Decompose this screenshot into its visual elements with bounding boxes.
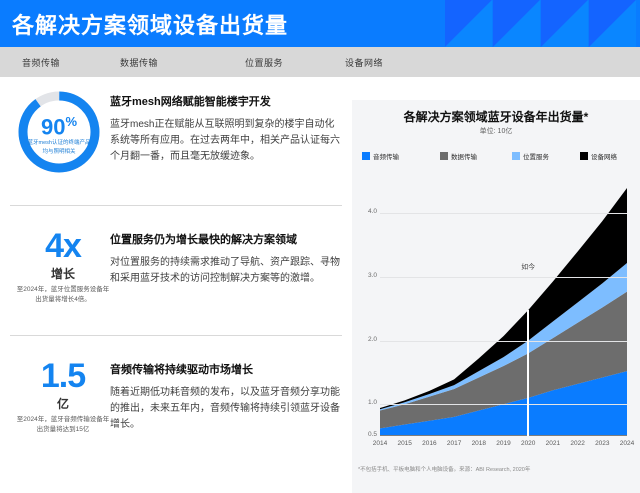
y-axis-tick-label: 3.0 <box>354 272 377 279</box>
x-axis-tick-label: 2018 <box>472 440 486 447</box>
fact-body-text: 随着近期低功耗音频的发布，以及蓝牙音频分享功能的推出，未来五年内，音频传输将持续… <box>110 385 342 433</box>
x-axis-tick-label: 2017 <box>447 440 461 447</box>
x-axis-tick-label: 2024 <box>620 440 634 447</box>
chart-legend: 音频传输数据传输位置服务设备网络 <box>362 146 634 158</box>
x-axis-tick-label: 2020 <box>521 440 535 447</box>
x-axis-tick-label: 2023 <box>595 440 609 447</box>
header-chevron-decoration <box>445 0 640 47</box>
stacked-area-svg <box>380 188 627 436</box>
x-axis-tick-label: 2015 <box>397 440 411 447</box>
legend-label: 设备网络 <box>591 154 617 161</box>
page-header: 各解决方案领域设备出货量 <box>0 0 640 47</box>
donut-number: 90 <box>41 114 65 139</box>
nav-item-4[interactable]: 设备网络 <box>345 56 383 69</box>
legend-item-2: 数据传输 <box>440 146 477 158</box>
donut-caption: 蓝牙mesh认证的终端产品均与照明相关 <box>25 139 93 157</box>
fact-text-block: 音频传输将持续驱动市场增长随着近期低功耗音频的发布，以及蓝牙音频分享功能的推出，… <box>110 363 342 433</box>
legend-item-3: 位置服务 <box>512 146 549 158</box>
page-title: 各解决方案领域设备出货量 <box>12 8 288 40</box>
chart-title: 各解决方案领域蓝牙设备年出货量* <box>352 108 640 125</box>
today-marker-label: 如今 <box>521 262 535 272</box>
legend-label: 位置服务 <box>523 154 549 161</box>
fact-heading: 位置服务仍为增长最快的解决方案领域 <box>110 233 342 248</box>
legend-swatch-icon <box>512 152 520 160</box>
x-axis-tick-label: 2019 <box>496 440 510 447</box>
donut-value: 90% <box>16 115 102 138</box>
chart-unit-label: 单位: 10亿 <box>352 126 640 136</box>
fact-body-text: 蓝牙mesh正在赋能从互联照明到复杂的楼宇自动化系统等所有应用。在过去两年中，相… <box>110 117 342 165</box>
legend-item-1: 音频传输 <box>362 146 399 158</box>
stat-value: 1.5 <box>8 359 118 393</box>
facts-column: 90%蓝牙mesh认证的终端产品均与照明相关蓝牙mesh网络赋能智能楼宇开发蓝牙… <box>0 77 352 493</box>
chevron-icon <box>589 0 636 47</box>
nav-item-3[interactable]: 位置服务 <box>245 56 283 69</box>
legend-swatch-icon <box>440 152 448 160</box>
donut-percent-symbol: % <box>65 114 77 129</box>
nav-item-2[interactable]: 数据传输 <box>120 56 158 69</box>
solution-area-nav: 音频传输数据传输位置服务设备网络 <box>0 47 640 77</box>
chevron-icon <box>445 0 492 47</box>
x-axis-tick-label: 2021 <box>546 440 560 447</box>
section-divider <box>10 335 342 336</box>
nav-item-1[interactable]: 音频传输 <box>22 56 60 69</box>
fact-text-block: 蓝牙mesh网络赋能智能楼宇开发蓝牙mesh正在赋能从互联照明到复杂的楼宇自动化… <box>110 95 342 165</box>
y-axis-tick-label: 0.5 <box>354 431 377 438</box>
y-axis-tick-label: 2.0 <box>354 336 377 343</box>
gridline <box>380 213 627 214</box>
chart-plot-area: 0.51.02.03.04.0如今 2014201520162017201820… <box>352 188 640 458</box>
plot-inner: 0.51.02.03.04.0如今 <box>380 188 627 436</box>
stat-block: 1.5亿至2024年，蓝牙音频传输设备年出货量将达到15亿 <box>8 359 118 435</box>
fact-body-text: 对位置服务的持续需求推动了导航、资产跟踪、寻物和采用蓝牙技术的访问控制解决方案等… <box>110 255 342 287</box>
legend-label: 数据传输 <box>451 154 477 161</box>
chart-footnote: *不包括手机、平板电脑和个人电脑设备。来源：ABI Research, 2020… <box>358 466 638 474</box>
x-axis-tick-label: 2016 <box>422 440 436 447</box>
x-axis-labels: 2014201520162017201820192020202120222023… <box>380 440 627 454</box>
fact-heading: 蓝牙mesh网络赋能智能楼宇开发 <box>110 95 342 110</box>
stat-note: 至2024年，蓝牙位置服务设备年出货量将增长4倍。 <box>8 285 118 305</box>
today-marker-line <box>527 310 529 436</box>
gridline <box>380 404 627 405</box>
legend-item-4: 设备网络 <box>580 146 617 158</box>
stat-sublabel: 亿 <box>8 395 118 412</box>
fact-text-block: 位置服务仍为增长最快的解决方案领域对位置服务的持续需求推动了导航、资产跟踪、寻物… <box>110 233 342 287</box>
stat-note: 至2024年，蓝牙音频传输设备年出货量将达到15亿 <box>8 415 118 435</box>
stat-value: 4x <box>8 229 118 263</box>
legend-swatch-icon <box>362 152 370 160</box>
section-divider <box>10 205 342 206</box>
legend-swatch-icon <box>580 152 588 160</box>
fact-heading: 音频传输将持续驱动市场增长 <box>110 363 342 378</box>
chart-panel: 各解决方案领域蓝牙设备年出货量* 单位: 10亿 音频传输数据传输位置服务设备网… <box>352 100 640 493</box>
gridline <box>380 341 627 342</box>
donut-chart-90-percent: 90%蓝牙mesh认证的终端产品均与照明相关 <box>16 89 102 175</box>
chevron-icon <box>493 0 540 47</box>
stat-sublabel: 增长 <box>8 265 118 282</box>
x-axis-line <box>380 435 627 436</box>
x-axis-tick-label: 2014 <box>373 440 387 447</box>
stat-block: 4x增长至2024年，蓝牙位置服务设备年出货量将增长4倍。 <box>8 229 118 305</box>
gridline <box>380 277 627 278</box>
legend-label: 音频传输 <box>373 154 399 161</box>
chevron-icon <box>541 0 588 47</box>
infographic-page: 各解决方案领域设备出货量 音频传输数据传输位置服务设备网络 90%蓝牙mesh认… <box>0 0 640 493</box>
y-axis-tick-label: 4.0 <box>354 208 377 215</box>
x-axis-tick-label: 2022 <box>570 440 584 447</box>
y-axis-tick-label: 1.0 <box>354 399 377 406</box>
